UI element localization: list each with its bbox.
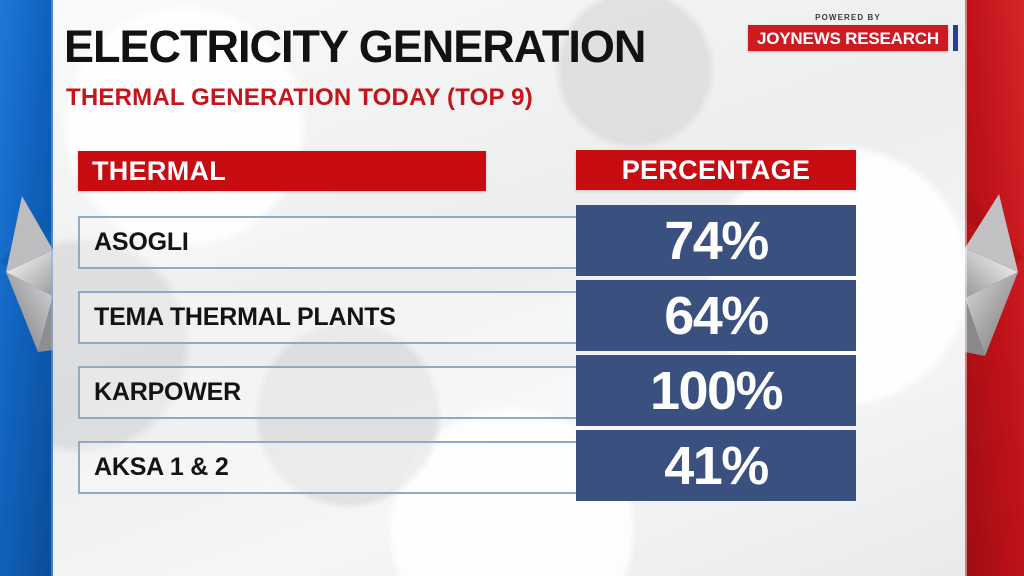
table-row: AKSA 1 & 2 41% [70,430,856,503]
column-header-thermal: THERMAL [78,151,486,191]
plant-name-cell: ASOGLI [78,216,653,269]
blue-star-graphic [0,0,53,576]
table-row: KARPOWER 100% [70,355,856,428]
percentage-value: 64% [664,289,768,343]
page-subtitle: THERMAL GENERATION TODAY (TOP 9) [66,86,533,110]
percentage-cell: 41% [576,430,856,501]
column-header-percentage-label: PERCENTAGE [622,157,811,184]
percentage-value: 100% [650,364,782,418]
column-header-percentage: PERCENTAGE [576,150,856,190]
plant-name: ASOGLI [94,230,189,255]
plant-name: KARPOWER [94,380,241,405]
thermal-generation-table: ASOGLI 74% TEMA THERMAL PLANTS 64% KARPO… [70,205,856,505]
plant-name: AKSA 1 & 2 [94,455,229,480]
logo-powered-by-label: POWERED BY [748,14,948,22]
percentage-value: 74% [664,214,768,268]
joynews-research-logo: POWERED BY JOYNEWS RESEARCH [748,14,948,51]
plant-name-cell: AKSA 1 & 2 [78,441,653,494]
right-decorative-band [965,0,1024,576]
percentage-value: 41% [664,439,768,493]
left-decorative-band [0,0,53,576]
logo-banner: JOYNEWS RESEARCH [748,25,948,51]
red-star-graphic [965,0,1024,576]
plant-name-cell: KARPOWER [78,366,653,419]
plant-name-cell: TEMA THERMAL PLANTS [78,291,653,344]
logo-accent-bar [953,25,958,51]
percentage-cell: 74% [576,205,856,276]
logo-name: JOYNEWS RESEARCH [757,30,939,47]
plant-name: TEMA THERMAL PLANTS [94,305,396,330]
table-row: TEMA THERMAL PLANTS 64% [70,280,856,353]
page-title: ELECTRICITY GENERATION [64,24,645,69]
percentage-cell: 100% [576,355,856,426]
percentage-cell: 64% [576,280,856,351]
table-row: ASOGLI 74% [70,205,856,278]
infographic-slide: ELECTRICITY GENERATION THERMAL GENERATIO… [0,0,1024,576]
column-header-thermal-label: THERMAL [92,158,226,185]
